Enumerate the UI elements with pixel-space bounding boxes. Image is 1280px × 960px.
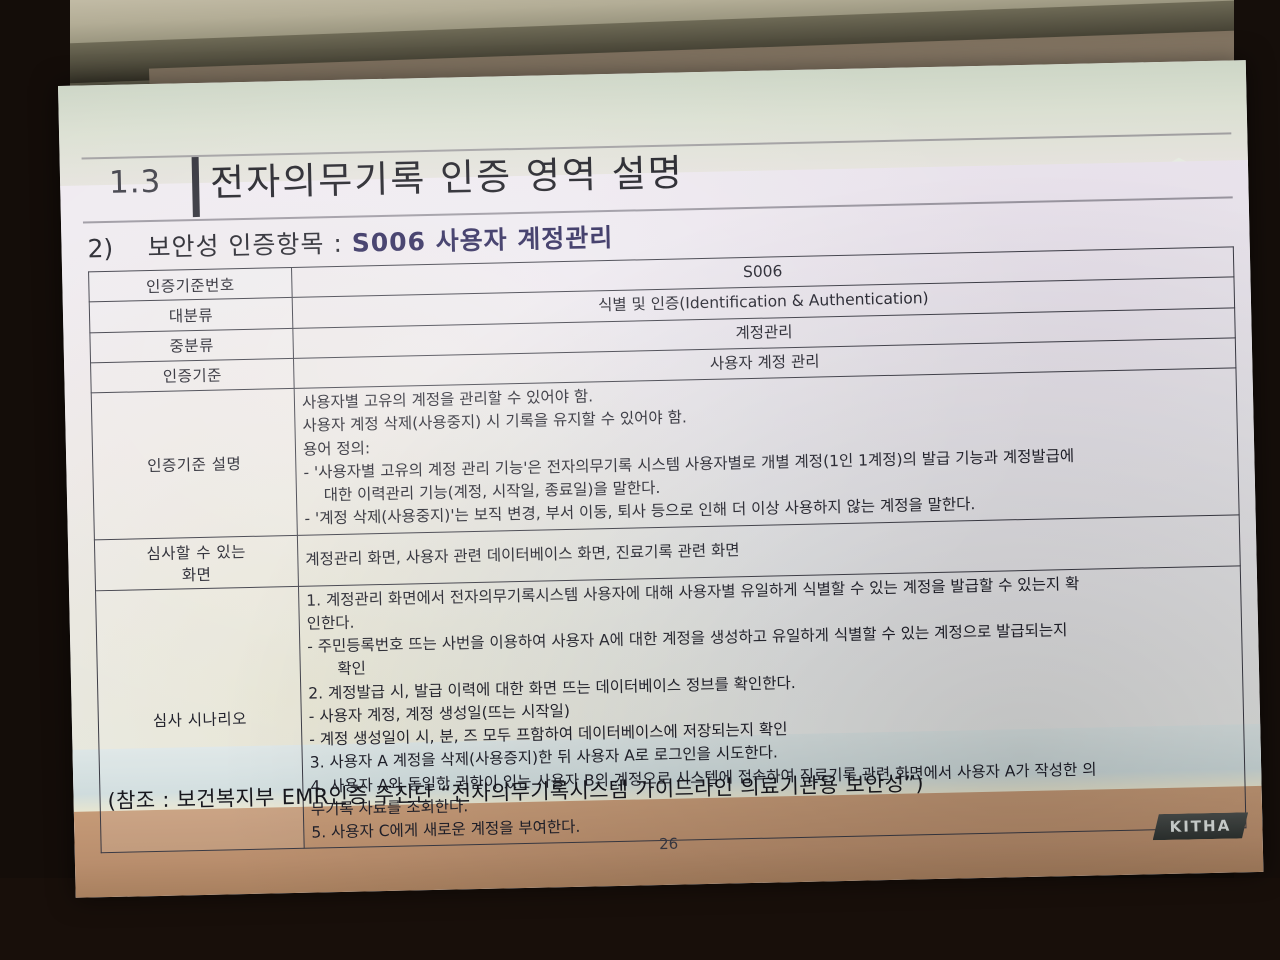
row-value-text: 사용자별 고유의 계정을 관리할 수 있어야 함. 사용자 계정 삭제(사용중지… — [302, 372, 1232, 532]
row-label: 중분류 — [90, 328, 294, 363]
slide-content: 1.3 전자의무기록 인증 영역 설명 2)보안성 인증항목 : S006 사용… — [58, 60, 1263, 898]
row-label: 대분류 — [89, 298, 293, 333]
subtitle-plain: 보안성 인증항목 : — [147, 229, 352, 262]
section-accent-bar — [192, 157, 200, 217]
page-title: 전자의무기록 인증 영역 설명 — [209, 142, 684, 206]
row-value-text: 계정관리 화면, 사용자 관련 데이터베이스 화면, 진료기록 관련 화면 — [305, 528, 1232, 571]
certification-table: 인증기준번호S006대분류식별 및 인증(Identification & Au… — [88, 246, 1246, 853]
projected-slide-photo: 1.3 전자의무기록 인증 영역 설명 2)보안성 인증항목 : S006 사용… — [0, 0, 1280, 960]
certification-table-body: 인증기준번호S006대분류식별 및 인증(Identification & Au… — [89, 247, 1246, 853]
projection-screen: 1.3 전자의무기록 인증 영역 설명 2)보안성 인증항목 : S006 사용… — [58, 60, 1263, 898]
table-row: 인증기준 설명사용자별 고유의 계정을 관리할 수 있어야 함. 사용자 계정 … — [91, 368, 1239, 539]
section-number: 1.3 — [86, 163, 185, 201]
kitha-logo: KITHA — [1152, 812, 1249, 840]
kitha-logo-text: KITHA — [1169, 817, 1231, 836]
row-label: 인증기준번호 — [89, 267, 293, 302]
row-label: 인증기준 설명 — [91, 388, 297, 539]
row-label: 인증기준 — [91, 358, 295, 393]
row-value: 사용자별 고유의 계정을 관리할 수 있어야 함. 사용자 계정 삭제(사용중지… — [294, 368, 1239, 535]
subtitle-bold: S006 사용자 계정관리 — [351, 223, 613, 258]
subtitle-index: 2) — [87, 233, 148, 263]
row-label: 심사할 수 있는 화면 — [94, 535, 298, 590]
